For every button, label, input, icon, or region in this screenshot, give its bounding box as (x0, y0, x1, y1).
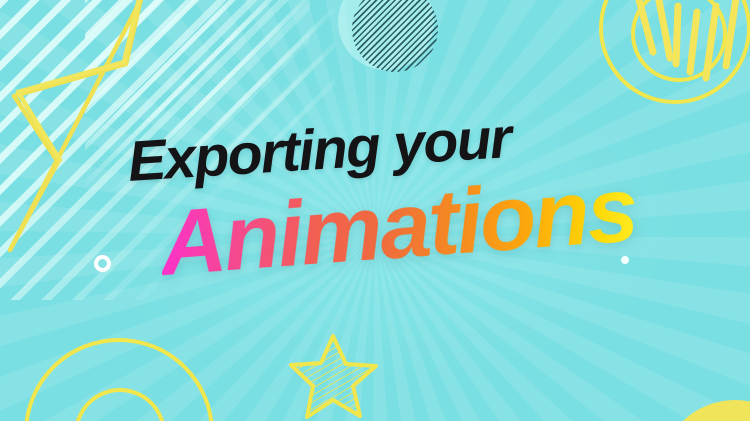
title-block: Exporting your Animations (0, 0, 750, 421)
slide-canvas: Exporting your Animations (0, 0, 750, 421)
